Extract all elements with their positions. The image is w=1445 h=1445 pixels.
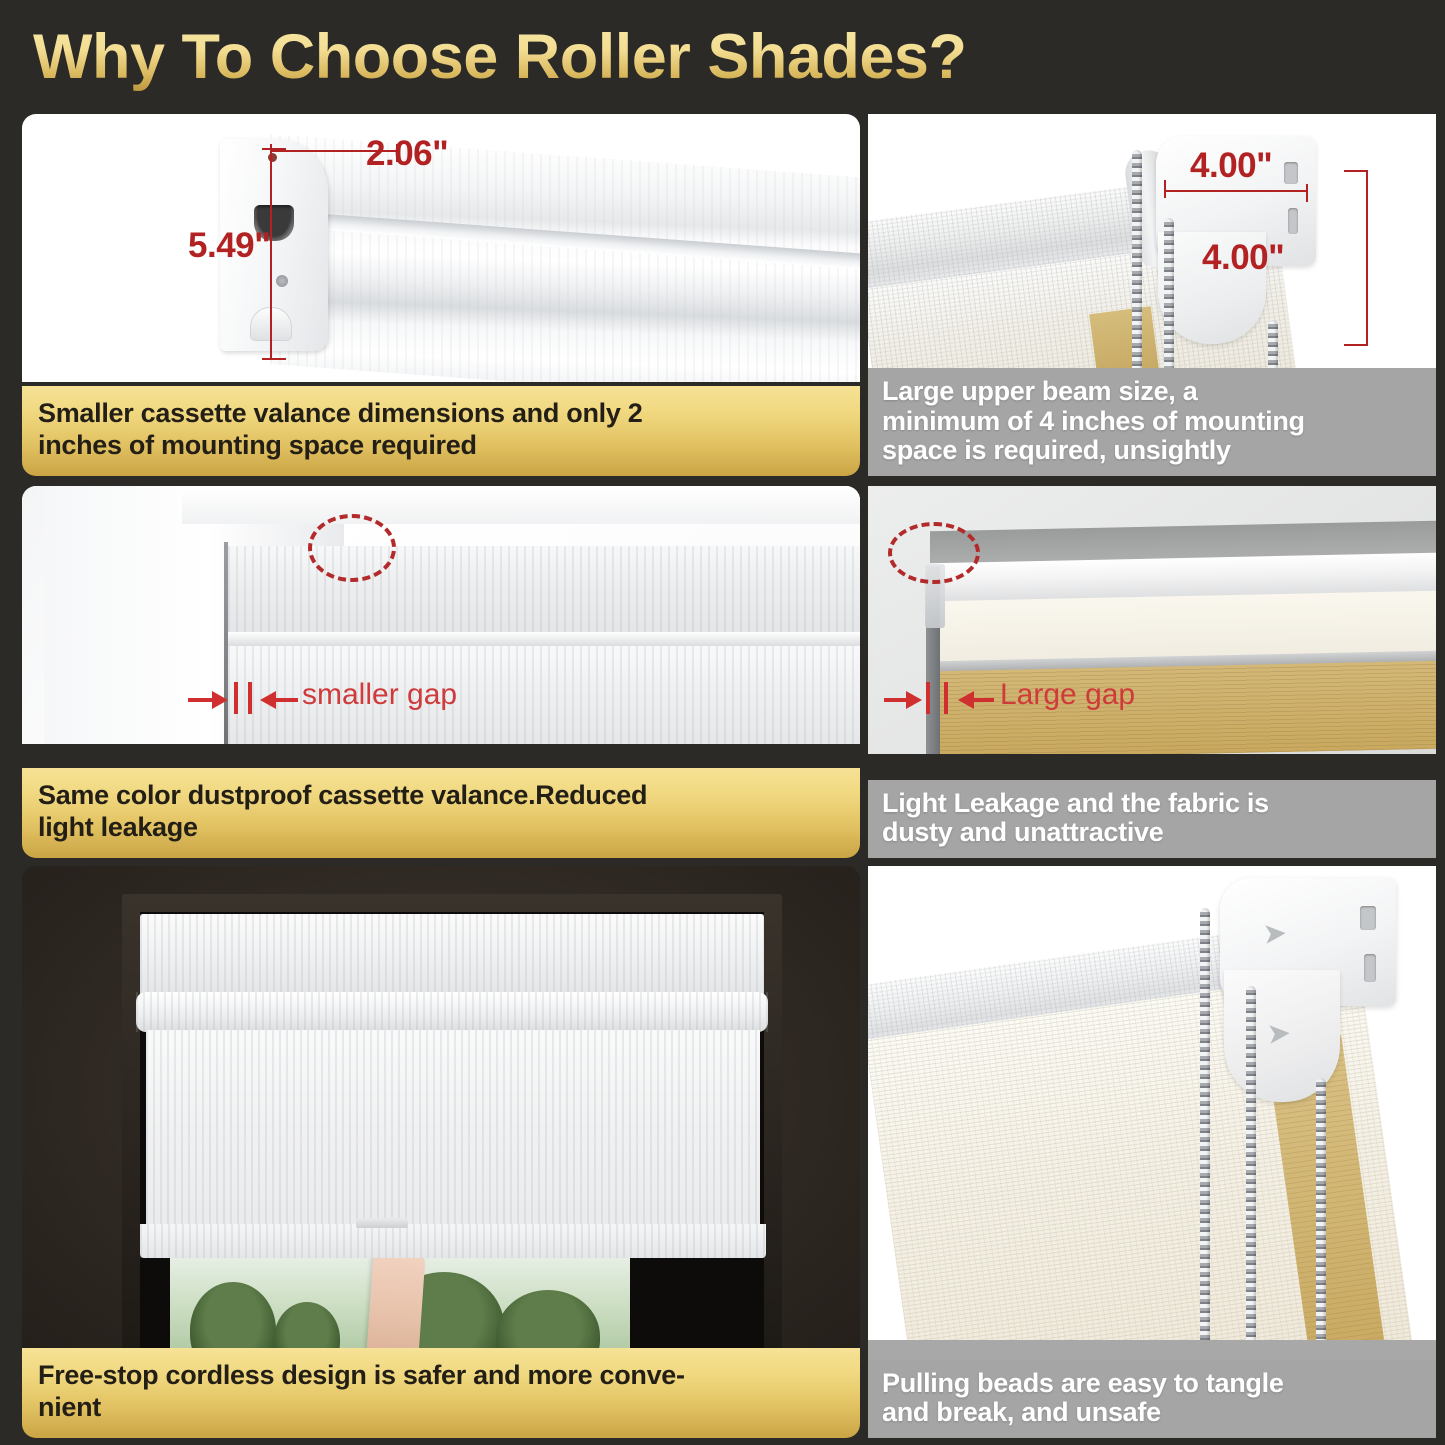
page-title: Why To Choose Roller Shades? [33, 21, 966, 93]
shade-fabric [146, 1030, 760, 1234]
caption-line: Large upper beam size, a [882, 377, 1422, 407]
bead-chain [1132, 150, 1142, 382]
bead-chain [1200, 908, 1210, 1360]
caption-line: light leakage [38, 812, 844, 844]
bead-chain [1246, 986, 1256, 1360]
beam-width-tick-left [1164, 180, 1166, 198]
gap-tick-right [944, 682, 948, 714]
bracket-hole-icon [1364, 954, 1376, 982]
gap-tick-right [248, 682, 252, 714]
shade-cassette-head [140, 914, 764, 996]
bead-chain [1316, 1078, 1326, 1360]
caption-line: inches of mounting space required [38, 430, 844, 462]
beam-width-tick-right [1306, 184, 1308, 202]
gap-edge-line [224, 542, 228, 744]
caption-pulling-beads: Pulling beads are easy to tangle and bre… [868, 1360, 1436, 1438]
shade-bottom-rail [140, 1224, 766, 1258]
cordless-room-photo [22, 866, 860, 1366]
bracket-arrow-icon: ➤ [1267, 1017, 1291, 1049]
gap-tick-left [926, 682, 930, 714]
gap-arrow-stem-right [972, 698, 994, 702]
caption-line: space is required, unsightly [882, 436, 1422, 466]
caption-cordless-design: Free-stop cordless design is safer and m… [22, 1348, 860, 1438]
panel-large-upper-beam: 4.00" 4.00" Large upper beam size, a min… [868, 114, 1436, 476]
caption-line: nient [38, 1392, 844, 1424]
height-dim-line [270, 148, 272, 360]
panel-light-leakage: Large gap Light Leakage and the fabric i… [868, 486, 1436, 858]
beam-height-label: 4.00" [1202, 238, 1284, 278]
shade-texture [146, 1030, 760, 1234]
gap-arrow-stem-right [274, 698, 298, 702]
beam-height-dim-line [1366, 170, 1368, 346]
height-dim-tick-top [262, 148, 286, 150]
infographic-page: Why To Choose Roller Shades? 2 [0, 0, 1445, 1445]
large-beam-photo: 4.00" 4.00" [868, 114, 1436, 382]
height-dim-tick-bottom [262, 358, 286, 360]
panel-smaller-cassette: 2.06" 5.49" Smaller cassette valance dim… [22, 114, 860, 476]
shade-texture [136, 992, 768, 1032]
gap-tick-left [234, 682, 238, 714]
window-frame-top [182, 486, 860, 524]
highlight-ellipse [308, 514, 396, 582]
beam-width-label: 4.00" [1190, 146, 1272, 186]
panel-dustproof-cassette: smaller gap Same color dustproof cassett… [22, 486, 860, 858]
highlight-ellipse [888, 522, 980, 584]
pull-tab [356, 1218, 408, 1228]
caption-line: dusty and unattractive [882, 818, 1422, 848]
gap-arrow-stem-left [884, 698, 908, 702]
gap-arrow-stem-left [188, 698, 214, 702]
bracket-hole-icon [1284, 162, 1298, 184]
beam-width-dim-line [1164, 190, 1308, 192]
caption-line: Smaller cassette valance dimensions and … [38, 398, 844, 430]
caption-line: Free-stop cordless design is safer and m… [38, 1360, 844, 1392]
caption-line: Light Leakage and the fabric is [882, 789, 1422, 819]
height-dimension-label: 5.49" [188, 226, 270, 266]
panel-grid: 2.06" 5.49" Smaller cassette valance dim… [0, 108, 1445, 1445]
shade-texture [140, 914, 764, 996]
bracket-hole-icon [1360, 906, 1376, 930]
caption-line: minimum of 4 inches of mounting [882, 407, 1422, 437]
bracket-arrow-icon: ➤ [1263, 917, 1287, 949]
shade-texture [140, 1224, 766, 1258]
caption-dustproof-cassette: Same color dustproof cassette valance.Re… [22, 768, 860, 858]
beam-height-tick-top [1344, 170, 1368, 172]
bracket-hole-icon [1288, 208, 1298, 234]
panel-pulling-beads: ➤ ➤ Pulling beads are easy to tangle and… [868, 866, 1436, 1438]
caption-line: and break, and unsafe [882, 1398, 1422, 1428]
cassette-valance-photo: 2.06" 5.49" [22, 114, 860, 382]
caption-smaller-cassette: Smaller cassette valance dimensions and … [22, 386, 860, 476]
gap-arrow-right-icon [906, 691, 922, 709]
smaller-gap-label: smaller gap [302, 678, 457, 712]
caption-light-leakage: Light Leakage and the fabric is dusty an… [868, 780, 1436, 858]
gap-arrow-right-icon [212, 691, 228, 709]
panel-cordless-design: Free-stop cordless design is safer and m… [22, 866, 860, 1438]
bead-chain [1164, 218, 1174, 382]
caption-line: Same color dustproof cassette valance.Re… [38, 780, 844, 812]
beam-height-tick-bottom [1344, 344, 1368, 346]
light-leakage-photo: Large gap [868, 486, 1436, 754]
title-bar: Why To Choose Roller Shades? [0, 0, 1445, 108]
caption-large-upper-beam: Large upper beam size, a minimum of 4 in… [868, 368, 1436, 476]
large-gap-label: Large gap [1000, 678, 1135, 712]
pulling-beads-photo: ➤ ➤ [868, 866, 1436, 1366]
endcap-screw-icon [276, 275, 288, 287]
shade-cassette-lip [136, 992, 768, 1032]
depth-dimension-label: 2.06" [366, 134, 448, 174]
caption-line: Pulling beads are easy to tangle [882, 1369, 1422, 1399]
dustproof-cassette-photo: smaller gap [22, 486, 860, 744]
hand-pulling-shade [366, 1240, 427, 1366]
